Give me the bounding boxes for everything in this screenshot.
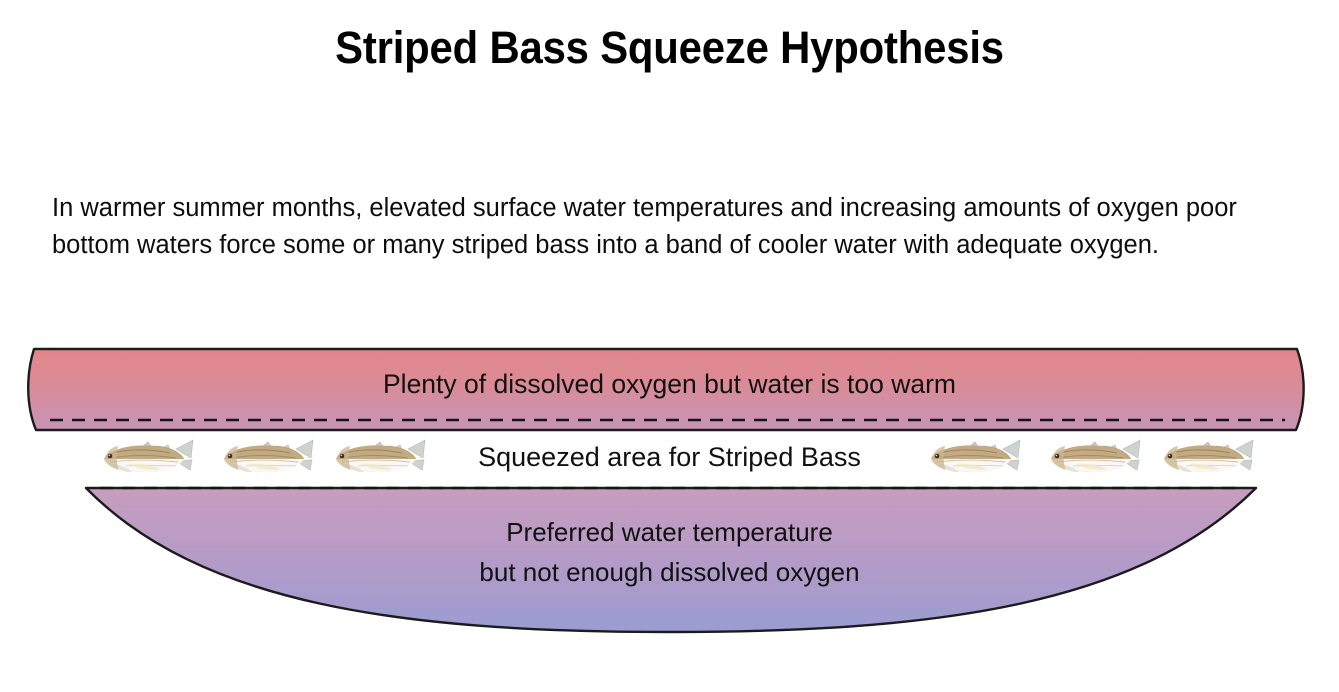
warm-layer-shape xyxy=(28,349,1303,430)
bottom-layer-shape xyxy=(86,488,1256,632)
page-title: Striped Bass Squeeze Hypothesis xyxy=(47,22,1292,74)
bottom-cold-layer xyxy=(86,488,1256,632)
warm-surface-layer xyxy=(28,349,1303,430)
diagram-canvas xyxy=(0,336,1339,646)
striped-bass-squeeze-diagram: Plenty of dissolved oxygen but water is … xyxy=(0,336,1339,646)
intro-paragraph: In warmer summer months, elevated surfac… xyxy=(52,190,1294,264)
